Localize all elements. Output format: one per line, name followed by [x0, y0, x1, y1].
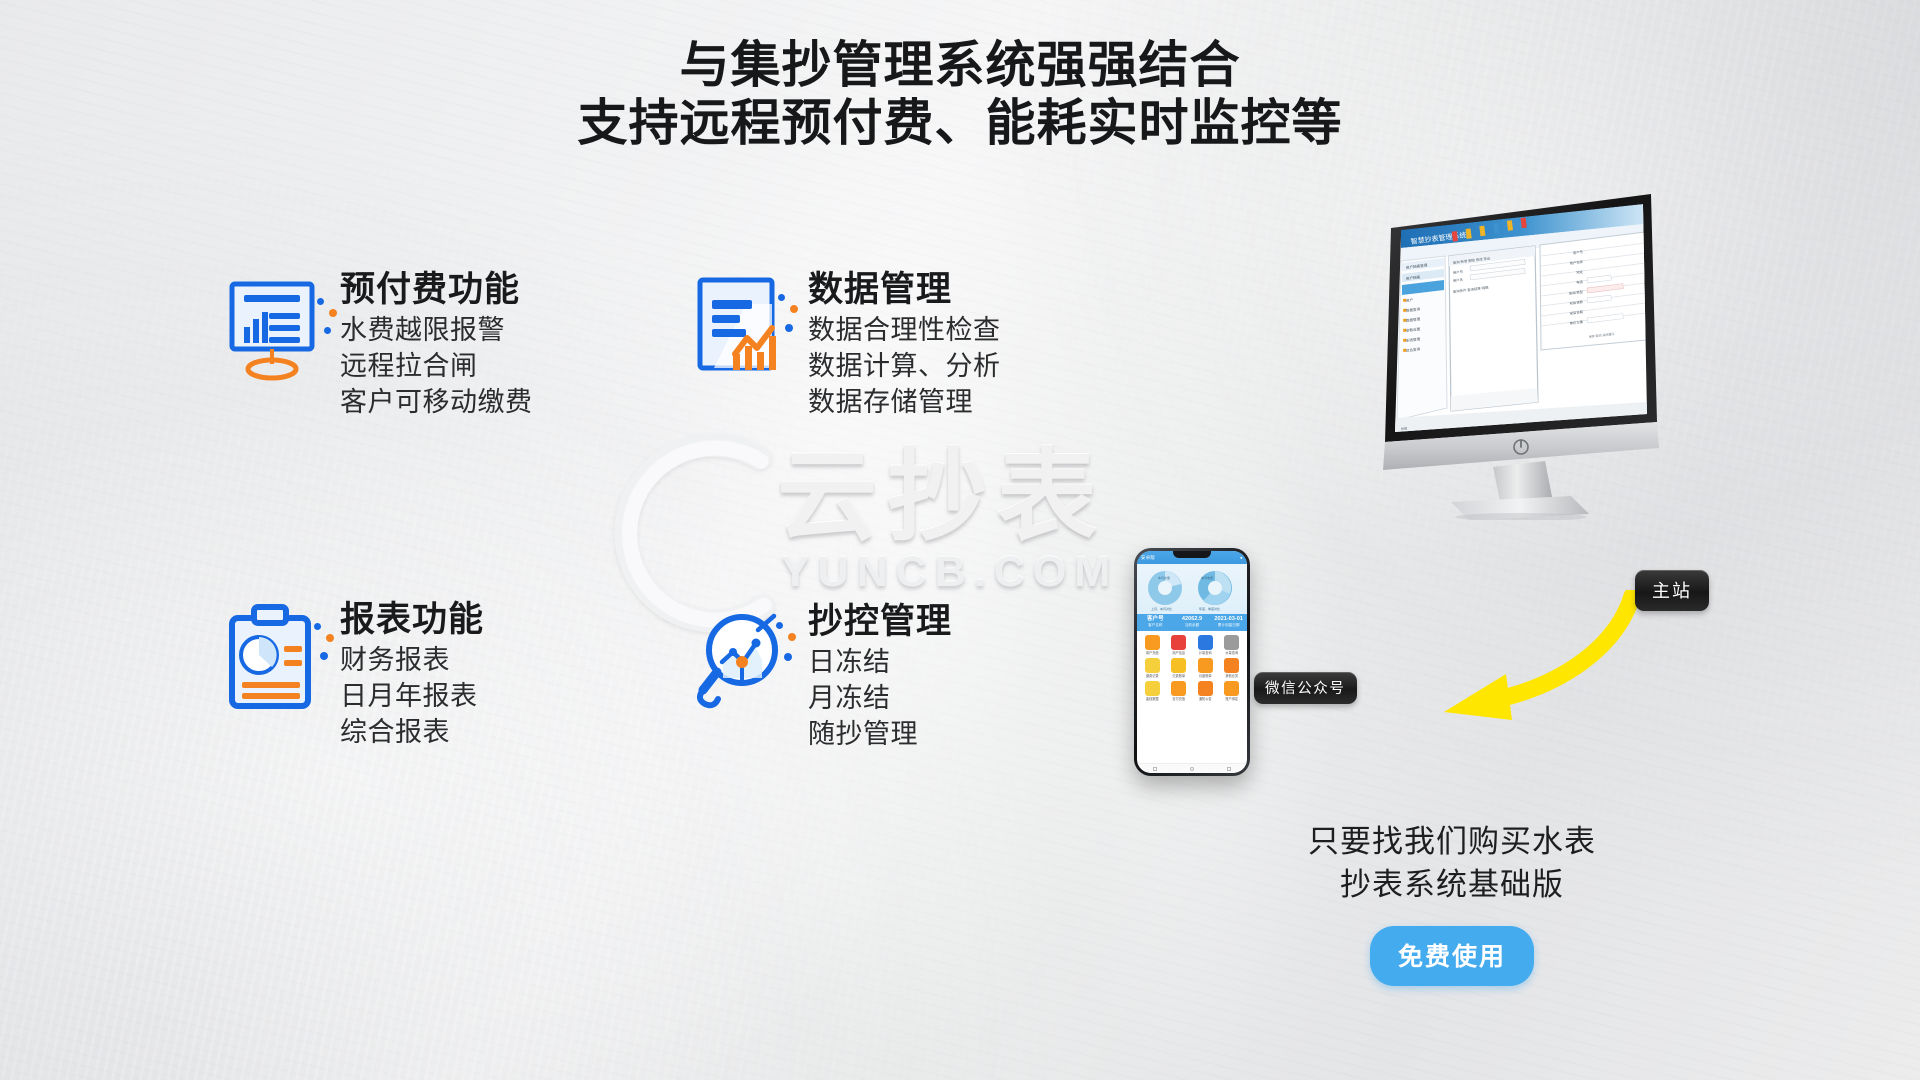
app-tile-icon	[1145, 681, 1160, 696]
phone-nav-bar[interactable]	[1137, 763, 1247, 773]
app-tile-icon	[1198, 658, 1213, 673]
phone-app-item[interactable]: 支付充值	[1167, 681, 1192, 701]
feature-text: 数据管理 数据合理性检查 数据计算、分析 数据存储管理	[808, 268, 1001, 420]
decor-dot-blue	[778, 294, 785, 301]
feature-prepaid: 预付费功能 水费越限报警 远程拉合闸 客户可移动缴费	[222, 268, 533, 420]
feature-item: 财务报表	[340, 642, 484, 678]
stat-value: 42062.9	[1174, 616, 1211, 623]
decor-dot-blue	[320, 652, 328, 660]
decor-dot-blue	[317, 298, 324, 305]
stat-label: 当前余额	[1174, 623, 1211, 628]
app-tile-icon	[1224, 658, 1239, 673]
decor-dot-blue	[785, 324, 793, 332]
feature-item: 数据合理性检查	[808, 312, 1001, 348]
yellow-arrow-icon	[1420, 590, 1650, 735]
app-tile-icon	[1171, 658, 1186, 673]
user-icon[interactable]: ●	[1240, 555, 1243, 560]
feature-item: 远程拉合闸	[340, 348, 533, 384]
phone-charts: 本月水量 上月、本月对比 本月电量 年度、季度对比	[1137, 564, 1247, 614]
cta-block: 只要找我们购买水表 抄表系统基础版 免费使用	[1262, 820, 1642, 986]
app-tile-icon	[1145, 635, 1160, 650]
stat-value: 客户号	[1137, 616, 1174, 623]
app-tile-label: 计量查询	[1193, 651, 1218, 655]
phone-body: 安卓版 ● 本月水量 上月、本月对比 本月电量 年度、季度对比	[1134, 548, 1250, 776]
mobile-phone: 安卓版 ● 本月水量 上月、本月对比 本月电量 年度、季度对比	[1134, 548, 1250, 776]
main-station-label: 主站	[1635, 570, 1709, 611]
stat-label: 累计用量日期	[1210, 623, 1247, 628]
magnifier-chart-icon	[690, 600, 794, 718]
phone-app-item[interactable]: 用户充值	[1140, 635, 1165, 655]
decor-dot-orange	[326, 634, 334, 642]
feature-heading: 预付费功能	[340, 268, 533, 312]
svg-text:用户: 用户	[1406, 297, 1414, 303]
phone-stat-item: 42062.9 当前余额	[1174, 614, 1211, 631]
app-tile-icon	[1224, 635, 1239, 650]
app-tile-label: 水量查询	[1220, 651, 1245, 655]
feature-reading-control: 抄控管理 日冻结 月冻结 随抄管理	[690, 600, 952, 752]
app-tile-label: 欠费账单	[1167, 674, 1192, 678]
phone-app-item[interactable]: 缴费记录	[1140, 658, 1165, 678]
svg-text:本月水量: 本月水量	[1158, 575, 1170, 580]
phone-app-title: 安卓版	[1141, 555, 1155, 561]
phone-stats: 客户号 客户名称 42062.9 当前余额 2021-03-01 累计用量日期	[1137, 614, 1247, 631]
phone-app-item[interactable]: 月度账单	[1193, 658, 1218, 678]
feature-text: 报表功能 财务报表 日月年报表 综合报表	[340, 598, 484, 750]
svg-text:上月、本月对比: 上月、本月对比	[1151, 606, 1172, 611]
desktop-monitor: 智慧抄表管理系统 用户档案管理 用户档案 用户 数据查询 数据管理	[1375, 190, 1775, 520]
watermark-text: 云抄表	[777, 442, 1107, 552]
feature-item: 数据存储管理	[808, 384, 1001, 420]
app-tile-label: 月度账单	[1193, 674, 1218, 678]
nav-back-icon[interactable]	[1153, 767, 1157, 771]
feature-data-management: 数据管理 数据合理性检查 数据计算、分析 数据存储管理	[690, 268, 1001, 420]
presentation-chart-icon	[222, 268, 326, 386]
app-tile-icon	[1171, 635, 1186, 650]
phone-app-item[interactable]: 欠费账单	[1167, 658, 1192, 678]
title-line-2: 支持远程预付费、能耗实时监控等	[0, 94, 1920, 152]
app-tile-label: 通知公告	[1193, 697, 1218, 701]
app-tile-icon	[1171, 681, 1186, 696]
stat-value: 2021-03-01	[1210, 616, 1247, 623]
feature-item: 水费越限报警	[340, 312, 533, 348]
app-tile-label: 支付充值	[1167, 697, 1192, 701]
svg-text:年度、季度对比: 年度、季度对比	[1199, 606, 1220, 611]
decor-dot-blue	[776, 622, 783, 629]
app-tile-label: 用户充值	[1140, 651, 1165, 655]
phone-app-item[interactable]: 曲线数据	[1140, 681, 1165, 701]
app-tile-label: 曲线数据	[1140, 697, 1165, 701]
phone-screen: 安卓版 ● 本月水量 上月、本月对比 本月电量 年度、季度对比	[1137, 551, 1247, 773]
feature-text: 预付费功能 水费越限报警 远程拉合闸 客户可移动缴费	[340, 268, 533, 420]
phone-stat-item: 2021-03-01 累计用量日期	[1210, 614, 1247, 631]
wechat-official-account-label: 微信公众号	[1254, 672, 1357, 704]
decor-dot-orange	[329, 309, 337, 317]
nav-recents-icon[interactable]	[1227, 767, 1231, 771]
decor-dot-blue	[784, 653, 792, 661]
title-line-1: 与集抄管理系统强强结合	[0, 36, 1920, 94]
phone-app-item[interactable]: 水量查询	[1220, 635, 1245, 655]
feature-heading: 报表功能	[340, 598, 484, 642]
feature-reports: 报表功能 财务报表 日月年报表 综合报表	[222, 598, 484, 750]
phone-app-item[interactable]: 账户绑定	[1220, 681, 1245, 701]
app-tile-label: 账户绑定	[1220, 697, 1245, 701]
app-tile-icon	[1198, 681, 1213, 696]
decor-dot-blue	[324, 327, 331, 334]
app-tile-label: 缴费记录	[1140, 674, 1165, 678]
decor-dot-blue	[314, 623, 321, 630]
clipboard-report-icon	[222, 598, 326, 716]
app-tile-label: 其他业务	[1220, 674, 1245, 678]
feature-item: 综合报表	[340, 714, 484, 750]
stat-label: 客户名称	[1137, 623, 1174, 628]
nav-home-icon[interactable]	[1190, 767, 1194, 771]
cta-line-2: 抄表系统基础版	[1262, 863, 1642, 906]
app-tile-icon	[1224, 681, 1239, 696]
phone-app-item[interactable]: 用户信息	[1167, 635, 1192, 655]
watermark-subtext: YUNCB.COM	[781, 548, 1118, 597]
feature-text: 抄控管理 日冻结 月冻结 随抄管理	[808, 600, 952, 752]
cta-line-1: 只要找我们购买水表	[1262, 820, 1642, 863]
free-trial-button[interactable]: 免费使用	[1370, 926, 1534, 986]
decor-dot-orange	[788, 633, 796, 641]
feature-item: 数据计算、分析	[808, 348, 1001, 384]
app-tile-label: 用户信息	[1167, 651, 1192, 655]
feature-item: 客户可移动缴费	[340, 384, 533, 420]
feature-item: 日冻结	[808, 644, 952, 680]
feature-heading: 抄控管理	[808, 600, 952, 644]
app-tile-icon	[1145, 658, 1160, 673]
page-title: 与集抄管理系统强强结合 支持远程预付费、能耗实时监控等	[0, 36, 1920, 152]
document-analytics-icon	[690, 268, 794, 386]
phone-notch	[1173, 551, 1211, 558]
svg-text:本月电量: 本月电量	[1201, 575, 1213, 580]
feature-item: 日月年报表	[340, 678, 484, 714]
phone-app-grid: 用户充值用户信息计量查询水量查询缴费记录欠费账单月度账单其他业务曲线数据支付充值…	[1137, 631, 1247, 705]
decor-dot-orange	[790, 305, 798, 313]
feature-item: 随抄管理	[808, 716, 952, 752]
phone-app-item[interactable]: 通知公告	[1193, 681, 1218, 701]
phone-stat-item: 客户号 客户名称	[1137, 614, 1174, 631]
feature-heading: 数据管理	[808, 268, 1001, 312]
phone-app-item[interactable]: 计量查询	[1193, 635, 1218, 655]
phone-app-item[interactable]: 其他业务	[1220, 658, 1245, 678]
feature-item: 月冻结	[808, 680, 952, 716]
app-tile-icon	[1198, 635, 1213, 650]
